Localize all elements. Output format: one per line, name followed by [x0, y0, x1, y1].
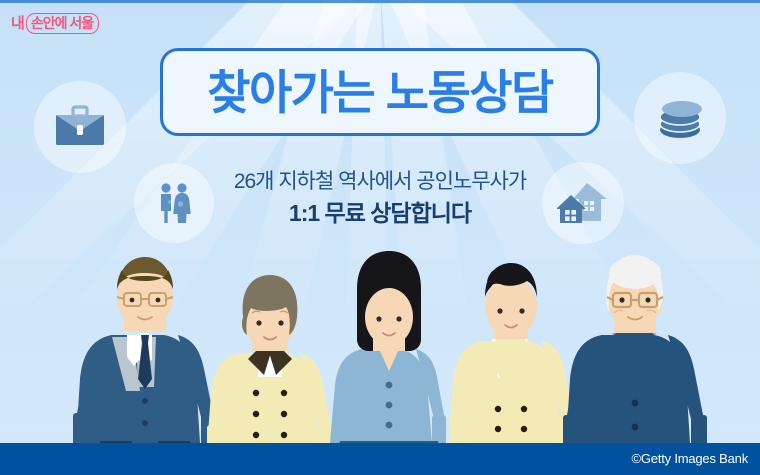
subtitle-line-1: 26개 지하철 역사에서 공인노무사가: [0, 168, 760, 196]
logo-boxed-words: 손안에 서울: [26, 13, 99, 34]
naeson-seoul-logo[interactable]: 내 손안에 서울: [11, 13, 99, 34]
copyright-credit: ©Getty Images Bank: [631, 451, 748, 466]
deco-circle-coins: [634, 72, 726, 164]
logo-first-word: 내: [11, 16, 24, 31]
page-title: 찾아가는 노동상담: [207, 69, 552, 116]
person-5: [563, 255, 707, 475]
subtitle-line-2: 1:1 무료 상담합니다: [0, 198, 760, 229]
poster-banner: 내 손안에 서울: [0, 0, 760, 475]
top-accent-line: [0, 0, 760, 3]
person-3: [330, 251, 446, 475]
people-illustration: [0, 245, 760, 475]
subtitle-block: 26개 지하철 역사에서 공인노무사가 1:1 무료 상담합니다: [0, 168, 760, 229]
coins-icon: [653, 94, 707, 142]
deco-circle-briefcase: [34, 81, 126, 173]
briefcase-icon: [52, 104, 108, 150]
title-box: 찾아가는 노동상담: [160, 48, 600, 136]
